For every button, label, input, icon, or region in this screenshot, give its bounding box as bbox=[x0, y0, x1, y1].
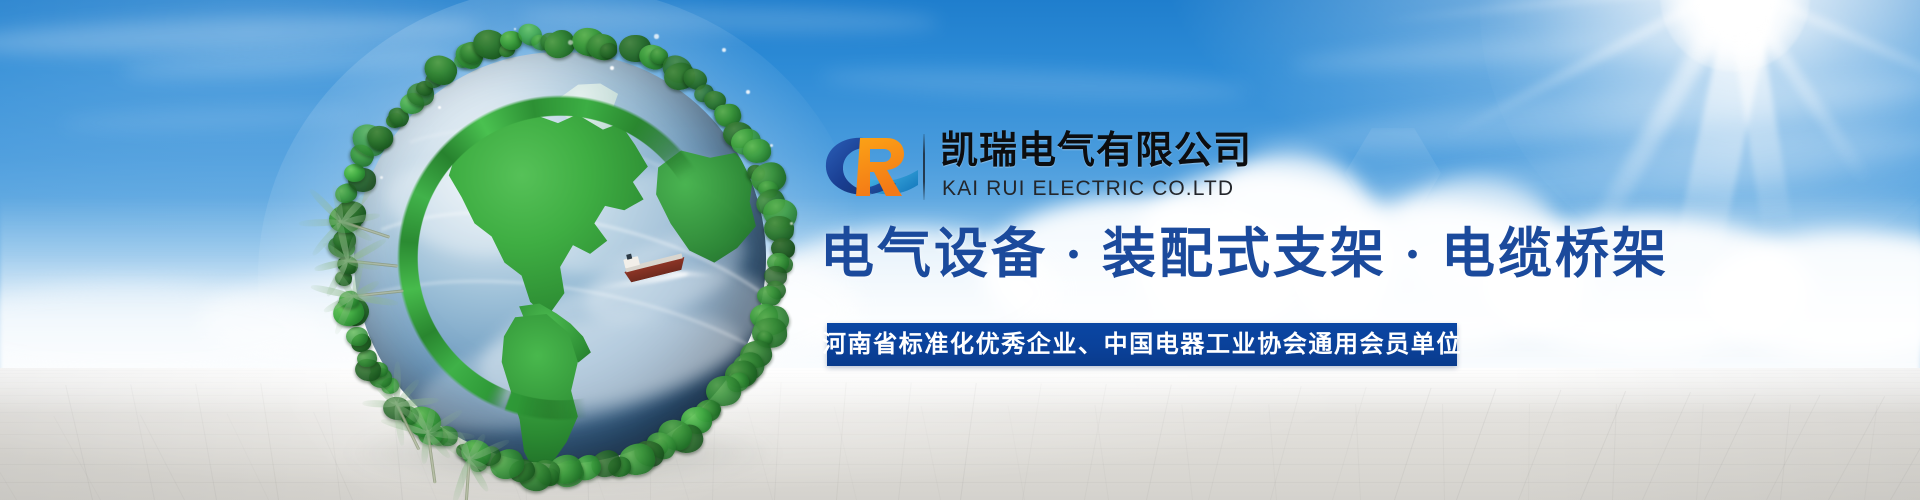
status-badge: 河南省标准化优秀企业、中国电器工业协会通用会员单位 bbox=[827, 323, 1457, 366]
tree-canopy-icon bbox=[345, 326, 367, 345]
brand-name-cn: 凯瑞电气有限公司 bbox=[940, 129, 1252, 173]
hero-banner: 凯瑞电气有限公司 KAI RUI ELECTRIC CO.LTD 电气设备 · … bbox=[0, 0, 1920, 500]
sparkle-icon bbox=[380, 176, 383, 179]
sparkle-icon bbox=[790, 222, 793, 225]
sparkle-icon bbox=[654, 34, 659, 39]
brand-lockup: 凯瑞电气有限公司 KAI RUI ELECTRIC CO.LTD bbox=[822, 128, 1222, 210]
status-badge-label: 河南省标准化优秀企业、中国电器工业协会通用会员单位 bbox=[822, 331, 1462, 359]
green-earth-globe bbox=[318, 26, 802, 500]
brand-divider bbox=[923, 134, 925, 200]
brand-name-en: KAI RUI ELECTRIC CO.LTD bbox=[942, 177, 1234, 201]
page-title: 电气设备 · 装配式支架 · 电缆桥架 bbox=[820, 222, 1669, 286]
sparkle-icon bbox=[568, 40, 573, 45]
kairui-cr-monogram-logo bbox=[822, 130, 920, 204]
